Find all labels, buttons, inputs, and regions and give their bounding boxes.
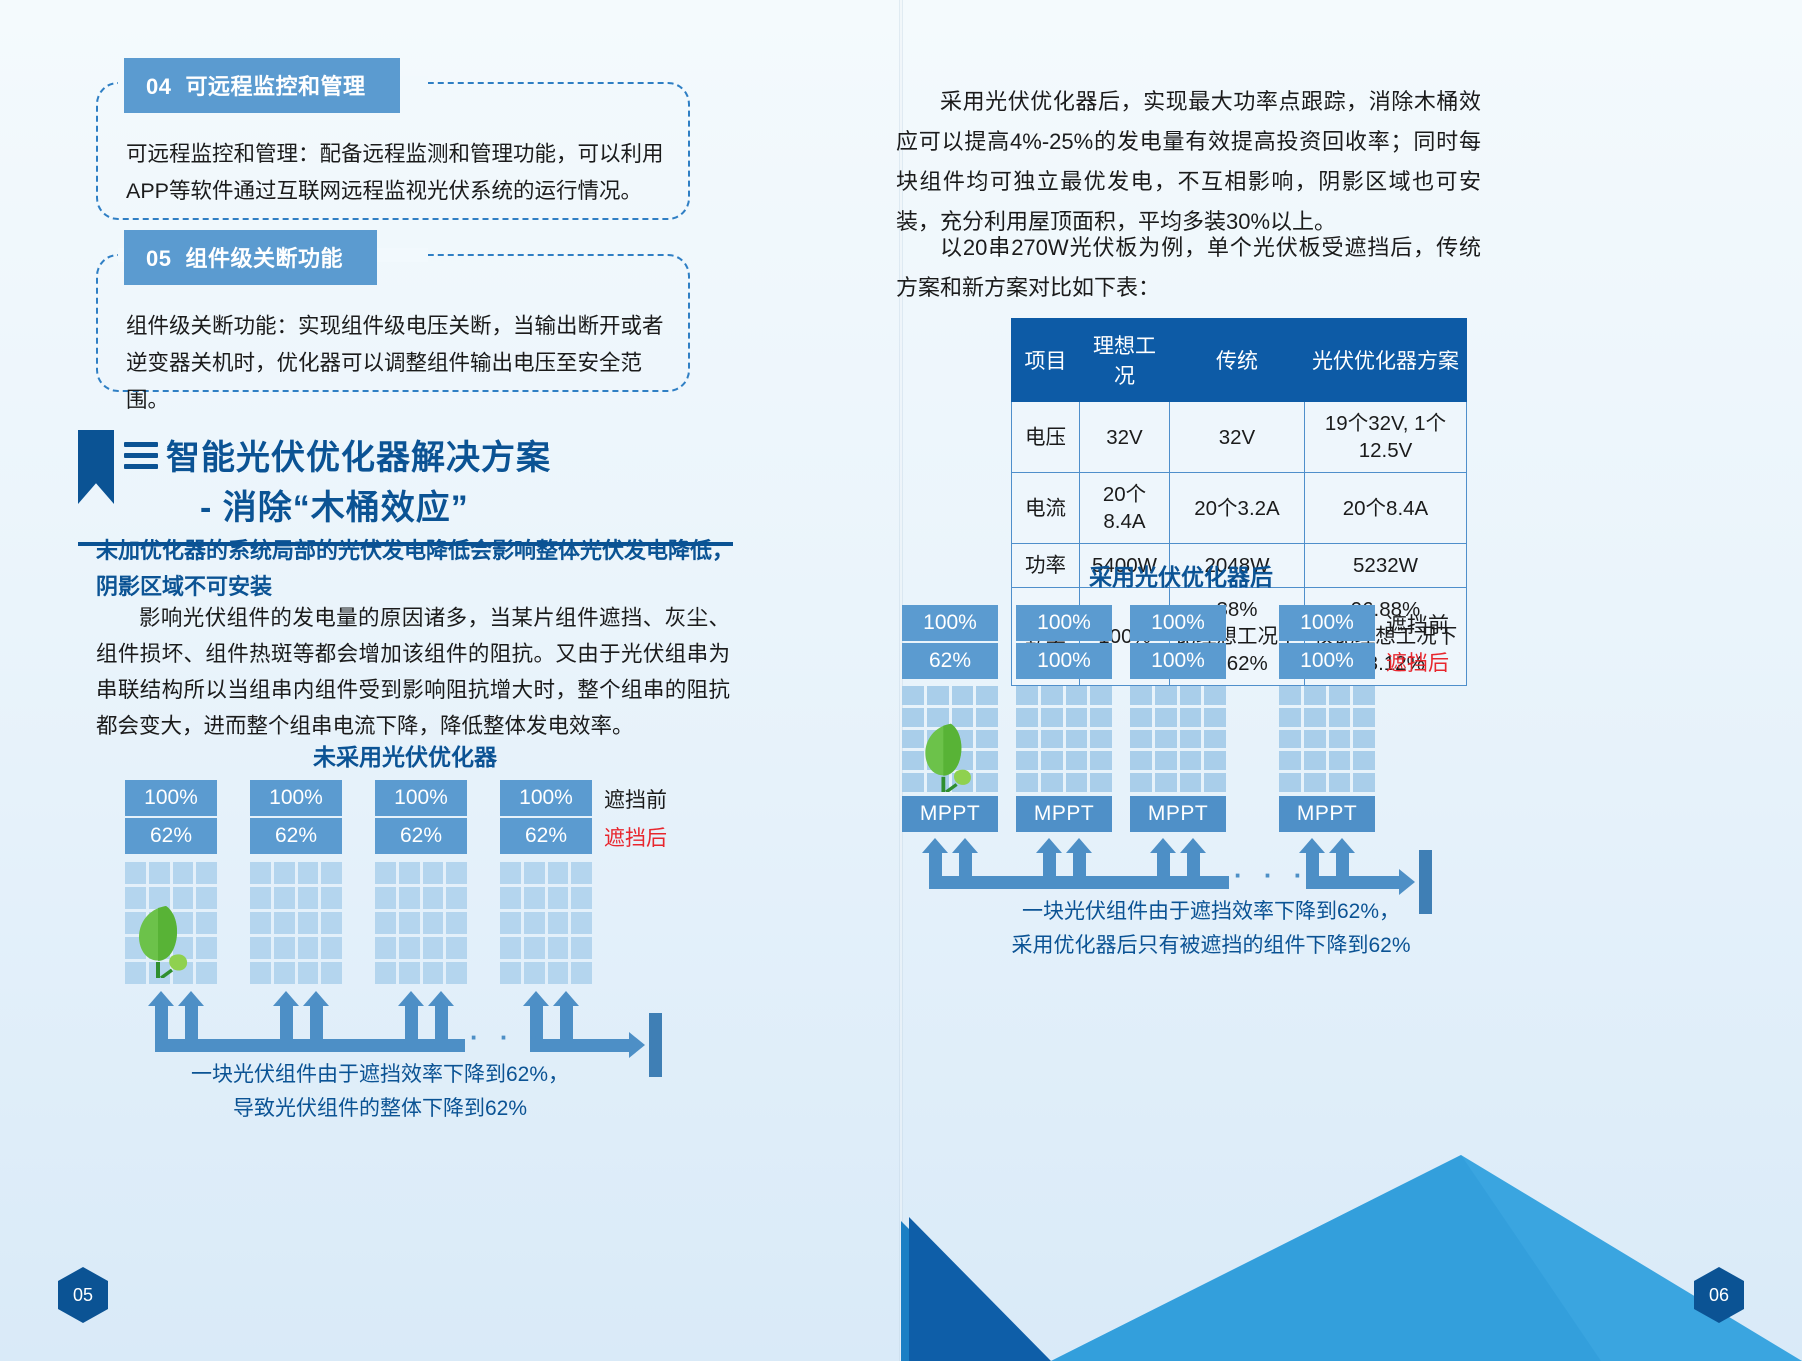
solar-panel-2 xyxy=(250,862,342,984)
r-after-row-label: 遮挡后 xyxy=(1386,647,1449,677)
mppt-box-2: MPPT xyxy=(1016,796,1112,832)
r-before-chip-2: 100% xyxy=(1016,605,1112,641)
diagram-right-caption-line1: 一块光伏组件由于遮挡效率下降到62%， xyxy=(931,895,1491,929)
solar-panel-3 xyxy=(375,862,467,984)
mppt-box-4: MPPT xyxy=(1279,796,1375,832)
bus-segment-left xyxy=(155,1039,465,1052)
diagram-left-caption-line2: 导致光伏组件的整体下降到62% xyxy=(120,1092,640,1126)
before-chip-2: 100% xyxy=(250,780,342,816)
diagram-right-caption: 一块光伏组件由于遮挡效率下降到62%， 采用优化器后只有被遮挡的组件下降到62% xyxy=(931,895,1491,962)
bus-end-cap xyxy=(649,1013,662,1077)
feature-card-04-body: 可远程监控和管理：配备远程监测和管理功能，可以利用APP等软件通过互联网远程监视… xyxy=(126,136,664,210)
mppt-box-1: MPPT xyxy=(902,796,998,832)
before-chip-3: 100% xyxy=(375,780,467,816)
r-after-chip-2: 100% xyxy=(1016,643,1112,679)
mppt-box-3: MPPT xyxy=(1130,796,1226,832)
r-after-chip-4: 100% xyxy=(1279,643,1375,679)
r-before-chip-3: 100% xyxy=(1130,605,1226,641)
feature-card-05-title: 组件级关断功能 xyxy=(185,246,343,271)
r-after-chip-3: 100% xyxy=(1130,643,1226,679)
r-bus-segment xyxy=(929,876,1229,889)
r-bus-arrow-right xyxy=(1306,876,1400,889)
r-solar-panel-3 xyxy=(1130,686,1226,792)
bus-arrow-right xyxy=(530,1039,630,1052)
after-chip-3: 62% xyxy=(375,818,467,854)
bottom-decoration-shapes xyxy=(901,1131,1802,1361)
diagram-right-title: 采用光伏优化器后 xyxy=(1089,558,1273,592)
r-after-chip-1: 62% xyxy=(902,643,998,679)
after-chip-1: 62% xyxy=(125,818,217,854)
after-row-label: 遮挡后 xyxy=(604,822,667,852)
solar-panel-4 xyxy=(500,862,592,984)
before-chip-1: 100% xyxy=(125,780,217,816)
r-solar-panel-2 xyxy=(1016,686,1112,792)
feature-card-04-badge: 04可远程监控和管理 xyxy=(124,58,400,113)
diagram-left-title: 未采用光伏优化器 xyxy=(313,738,497,772)
diagram-left-caption: 一块光伏组件由于遮挡效率下降到62%， 导致光伏组件的整体下降到62% xyxy=(120,1058,640,1125)
diagram-left-caption-line1: 一块光伏组件由于遮挡效率下降到62%， xyxy=(120,1058,640,1092)
after-chip-4: 62% xyxy=(500,818,592,854)
before-chip-4: 100% xyxy=(500,780,592,816)
before-row-label: 遮挡前 xyxy=(604,784,667,814)
r-before-chip-4: 100% xyxy=(1279,605,1375,641)
feature-card-04-number: 04 xyxy=(146,74,171,99)
brochure-spread: 04可远程监控和管理 可远程监控和管理：配备远程监测和管理功能，可以利用APP等… xyxy=(0,0,1802,1361)
r-before-chip-1: 100% xyxy=(902,605,998,641)
r-solar-panel-4 xyxy=(1279,686,1375,792)
r-bus-ellipsis: · · · xyxy=(1234,860,1309,891)
solar-panel-1 xyxy=(125,862,217,984)
feature-card-05-badge: 05组件级关断功能 xyxy=(124,230,377,285)
feature-card-05-body: 组件级关断功能：实现组件级电压关断，当输出断开或者逆变器关机时，优化器可以调整组… xyxy=(126,308,664,419)
after-chip-2: 62% xyxy=(250,818,342,854)
r-before-row-label: 遮挡前 xyxy=(1386,609,1449,639)
feature-card-04-title: 可远程监控和管理 xyxy=(185,74,365,99)
r-solar-panel-1 xyxy=(902,686,998,792)
diagram-right-caption-line2: 采用优化器后只有被遮挡的组件下降到62% xyxy=(931,929,1491,963)
feature-card-05-number: 05 xyxy=(146,246,171,271)
